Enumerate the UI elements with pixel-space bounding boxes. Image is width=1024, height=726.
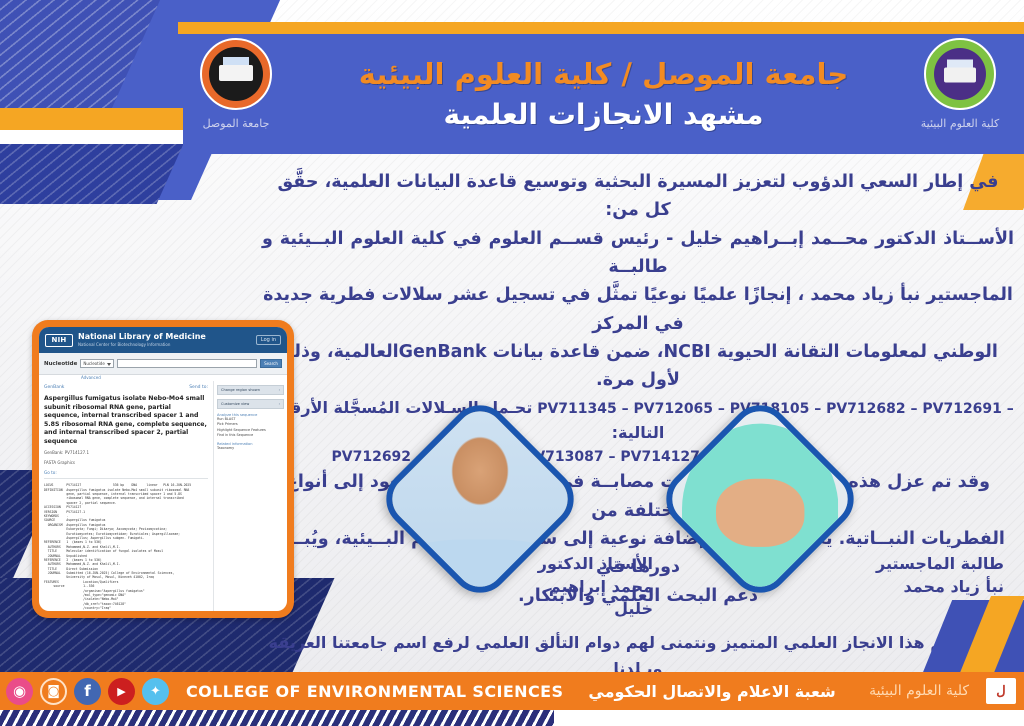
nlm-org-title: National Library of Medicine [78, 333, 206, 341]
footer-english-label: COLLEGE OF ENVIRONMENTAL SCIENCES [186, 682, 563, 701]
college-logo-block: كلية العلوم البيئية [912, 34, 1008, 130]
twitter-icon[interactable]: ✦ [142, 678, 169, 705]
database-select[interactable]: Nucleotide [80, 359, 114, 368]
search-input[interactable] [117, 359, 257, 368]
nlm-org-block: National Library of Medicine National Ce… [78, 333, 206, 347]
professor-name: محمد إبراهيم خليل [505, 576, 653, 621]
accession-row-1: PV711345 – PV712065 – PV718105 – PV71268… [262, 395, 1014, 446]
body-line-2: الأســتاذ الدكتور محــمد إبــراهيم خليل … [262, 225, 1014, 282]
nlm-header-bar: NIH National Library of Medicine Nationa… [39, 327, 287, 353]
media-office-logo-icon: ل [986, 678, 1016, 704]
instagram-icon[interactable]: ◙ [40, 678, 67, 705]
ncbi-screenshot-frame: NIH National Library of Medicine Nationa… [32, 320, 294, 618]
college-of-environmental-sciences-seal-icon [924, 38, 996, 110]
poster-canvas: جامعة الموصل / كلية العلوم البيئية مشهد … [0, 0, 1024, 726]
go-to-link[interactable]: Go to: [44, 470, 208, 479]
student-name: نبأ زياد محمد [862, 576, 1004, 599]
header-titles: جامعة الموصل / كلية العلوم البيئية مشهد … [183, 57, 1024, 130]
main-paragraph: في إطار السعي الدؤوب لتعزيز المسيرة البح… [262, 168, 1014, 610]
sidebar-item-change-region[interactable]: Change region shown [217, 385, 284, 395]
header-bar: جامعة الموصل / كلية العلوم البيئية مشهد … [183, 34, 1024, 154]
sidebar-item-taxonomy[interactable]: Taxonomy [217, 446, 284, 451]
caption-student: طالبة الماجستير نبأ زياد محمد [862, 553, 1004, 598]
record-toolbar: GenBank Send to: [44, 385, 208, 390]
professor-title: الأستاذ الدكتور [505, 553, 653, 576]
student-title: طالبة الماجستير [862, 553, 1004, 576]
body2-line-1: وقد تم عزل هذه السـلالات من نبــاتات مصا… [262, 468, 1014, 525]
body-line-3: الماجستير نبأ زياد محمد ، إنجازًا علميًا… [262, 281, 1014, 338]
sidebar-item-find-in-sequence[interactable]: Find in this Sequence [217, 433, 284, 438]
record-format-links[interactable]: FASTA Graphics [44, 460, 208, 466]
nih-logo: NIH [45, 334, 73, 347]
university-logo-block: جامعة الموصل [188, 34, 284, 130]
ncbi-main-area: GenBank Send to: Aspergillus fumigatus i… [39, 381, 287, 611]
ncbi-genbank-page: NIH National Library of Medicine Nationa… [39, 327, 287, 611]
search-button[interactable]: Search [260, 359, 282, 368]
ncbi-brand-label: Nucleotide [44, 361, 77, 367]
footer-bar: ◉ ◙ f ▶ ✦ COLLEGE OF ENVIRONMENTAL SCIEN… [0, 672, 1024, 710]
breadcrumb[interactable]: GenBank [44, 385, 64, 390]
college-logo-caption: كلية العلوم البيئية [912, 117, 1008, 130]
login-button[interactable]: Log in [256, 335, 281, 345]
send-to-menu[interactable]: Send to: [189, 385, 208, 390]
decor-orange-band [0, 108, 195, 130]
ncbi-search-row: Nucleotide Nucleotide Search [39, 353, 287, 375]
caption-professor: الأستاذ الدكتور محمد إبراهيم خليل [505, 553, 653, 621]
accession-row-2: PV712692 – PV713086 – PV713087 – PV71412… [262, 446, 1014, 468]
page-title: مشهد الانجازات العلمية [293, 98, 914, 131]
decor-navy-band [0, 144, 183, 204]
ncbi-sidebar: Change region shown Customize view Analy… [213, 381, 287, 611]
header-orange-top-band [178, 22, 1024, 34]
footer-seal-caption: كلية العلوم البيئية [869, 683, 969, 699]
body-line-1: في إطار السعي الدؤوب لتعزيز المسيرة البح… [262, 168, 1014, 225]
ncbi-record-column: GenBank Send to: Aspergillus fumigatus i… [39, 381, 213, 611]
nlm-org-subtitle: National Center for Biotechnology Inform… [78, 343, 206, 347]
youtube-icon[interactable]: ▶ [108, 678, 135, 705]
decor-white-band [0, 130, 193, 144]
university-of-mosul-seal-icon [200, 38, 272, 110]
footer-white-band [554, 710, 1024, 726]
university-logo-caption: جامعة الموصل [188, 117, 284, 130]
header-title-line1: جامعة الموصل / كلية العلوم البيئية [293, 57, 914, 91]
record-accession: GenBank: PV714127.1 [44, 450, 208, 456]
facebook-icon[interactable]: f [74, 678, 101, 705]
dribbble-icon[interactable]: ◉ [6, 678, 33, 705]
sidebar-item-customize-view[interactable]: Customize view [217, 399, 284, 409]
genbank-flatfile-text: LOCUS PV714127 536 bp DNA linear PLN 16-… [44, 483, 208, 611]
record-title: Aspergillus fumigatus isolate Nebo-Mo4 s… [44, 395, 208, 446]
footer-arabic-label: شعبة الاعلام والاتصال الحكومي [588, 682, 835, 701]
body-line-4: الوطني لمعلومات التقانة الحيوية NCBI، ضم… [262, 338, 1014, 395]
